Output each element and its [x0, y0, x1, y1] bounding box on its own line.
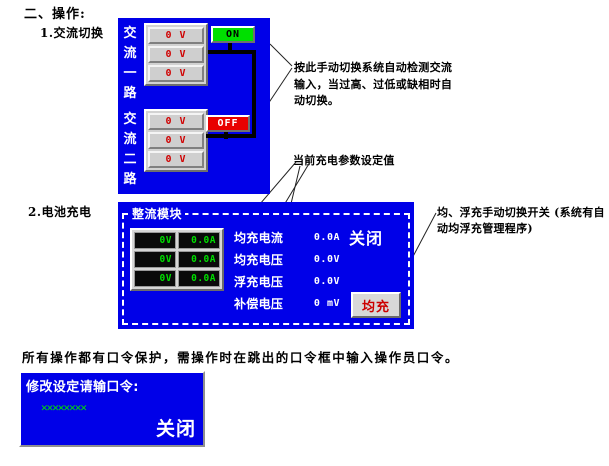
ac-line-2-meter-group: 0 V 0 V 0 V: [144, 109, 208, 172]
wire-line1-horizontal: [208, 50, 256, 54]
rectifier-lcd-row: 0V 0.0A: [134, 251, 220, 268]
ac-switch-off-button[interactable]: OFF: [206, 115, 250, 132]
leader-line-off-switch: [268, 68, 292, 104]
rectifier-lcd-row: 0V 0.0A: [134, 232, 220, 249]
charge-parameter-list: 均充电流 0.0A 均充电压 0.0V 浮充电压 0.0V 补偿电压 0 mV: [234, 226, 340, 314]
section-heading-battery-charging: 2.电池充电: [28, 203, 92, 220]
annotation-equalize-float-switch: 均、浮充手动切换开关 (系统有自动均浮充管理程序): [437, 205, 609, 237]
ac-line-1-meter-phase-c: 0 V: [148, 65, 204, 82]
ac-switching-screen[interactable]: 交流一路 交流二路 0 V 0 V 0 V 0 V 0 V 0 V ON OFF: [118, 18, 270, 194]
ac-line-2-label: 交流二路: [122, 110, 138, 190]
rectifier-2-voltage: 0V: [134, 251, 176, 268]
password-dialog-close-button[interactable]: 关闭: [156, 414, 196, 441]
rectifier-1-current: 0.0A: [178, 232, 220, 249]
ac-line-2-meter-phase-b: 0 V: [148, 132, 204, 149]
param-label-compensation-voltage: 补偿电压: [234, 295, 294, 312]
wire-off-stub: [224, 131, 228, 139]
param-value-equalize-voltage: 0.0V: [294, 254, 340, 265]
wire-bus-vertical: [252, 50, 256, 138]
ac-line-1-meter-phase-a: 0 V: [148, 27, 204, 44]
ac-line-2-meter-phase-c: 0 V: [148, 151, 204, 168]
rectifier-3-voltage: 0V: [134, 270, 176, 287]
password-input[interactable]: ✕✕✕✕✕✕✕✕: [41, 401, 86, 414]
ac-line-1-meter-group: 0 V 0 V 0 V: [144, 23, 208, 86]
rectifier-lcd-row: 0V 0.0A: [134, 270, 220, 287]
ac-line-1-label: 交流一路: [122, 24, 138, 104]
rectifier-module-title: 整流模块: [129, 205, 185, 222]
annotation-current-charge-parameters: 当前充电参数设定值: [293, 153, 473, 170]
ac-line-2-meter-phase-a: 0 V: [148, 113, 204, 130]
param-value-float-voltage: 0.0V: [294, 276, 340, 287]
rectifier-1-voltage: 0V: [134, 232, 176, 249]
rectifier-module-screen[interactable]: 整流模块 0V 0.0A 0V 0.0A 0V 0.0A 均充电流 0.0A 均…: [118, 202, 414, 329]
param-label-equalize-current: 均充电流: [234, 229, 294, 246]
param-label-float-voltage: 浮充电压: [234, 273, 294, 290]
section-heading-ac-switching: 1.交流切换: [40, 24, 104, 41]
wire-on-stub: [228, 43, 232, 51]
password-prompt-label: 修改设定请输口令:: [26, 376, 139, 395]
param-row-equalize-voltage: 均充电压 0.0V: [234, 248, 340, 270]
param-row-compensation-voltage: 补偿电压 0 mV: [234, 292, 340, 314]
equalize-charge-button[interactable]: 均充: [351, 292, 401, 318]
rectifier-2-current: 0.0A: [178, 251, 220, 268]
annotation-manual-switch: 按此手动切换系统自动检测交流输入，当过高、过低或缺相时自动切换。: [294, 60, 459, 110]
wire-line2-horizontal: [206, 134, 256, 138]
ac-line-1-meter-phase-b: 0 V: [148, 46, 204, 63]
page-title: 二、操作:: [24, 3, 86, 22]
password-dialog[interactable]: 修改设定请输口令: ✕✕✕✕✕✕✕✕ 关闭: [19, 371, 205, 447]
param-value-equalize-current: 0.0A: [294, 232, 340, 243]
rectifier-lcd-grid: 0V 0.0A 0V 0.0A 0V 0.0A: [130, 228, 224, 291]
param-row-float-voltage: 浮充电压 0.0V: [234, 270, 340, 292]
leader-line-on-switch: [270, 44, 292, 66]
password-protection-paragraph: 所有操作都有口令保护，需操作时在跳出的口令框中输入操作员口令。: [22, 347, 459, 366]
param-value-compensation-voltage: 0 mV: [294, 298, 340, 309]
ac-switch-on-button[interactable]: ON: [211, 26, 255, 43]
rectifier-3-current: 0.0A: [178, 270, 220, 287]
param-row-equalize-current: 均充电流 0.0A: [234, 226, 340, 248]
param-label-equalize-voltage: 均充电压: [234, 251, 294, 268]
rectifier-status-text: 关闭: [349, 225, 383, 249]
